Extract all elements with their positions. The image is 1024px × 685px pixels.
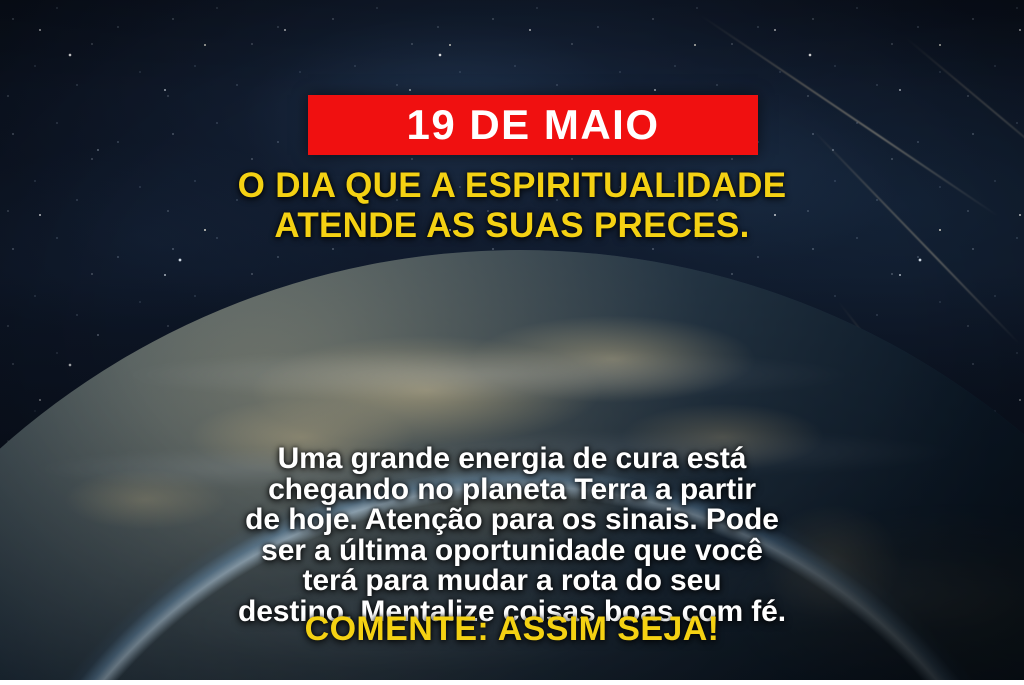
body-line-3: de hoje. Atenção para os sinais. Pode bbox=[62, 505, 962, 536]
body-line-1: Uma grande energia de cura está bbox=[62, 444, 962, 475]
body-paragraph: Uma grande energia de cura está chegando… bbox=[62, 444, 962, 628]
poster-content: 19 DE MAIO O DIA QUE A ESPIRITUALIDADE A… bbox=[0, 0, 1024, 685]
body-line-4: ser a última oportunidade que você bbox=[62, 536, 962, 567]
poster-canvas: 19 DE MAIO O DIA QUE A ESPIRITUALIDADE A… bbox=[0, 0, 1024, 685]
headline: O DIA QUE A ESPIRITUALIDADE ATENDE AS SU… bbox=[0, 166, 1024, 246]
date-banner: 19 DE MAIO bbox=[308, 95, 758, 155]
headline-line-1: O DIA QUE A ESPIRITUALIDADE bbox=[0, 166, 1024, 206]
bottom-white-edge bbox=[0, 680, 1024, 685]
body-line-5: terá para mudar a rota do seu bbox=[62, 566, 962, 597]
date-banner-text: 19 DE MAIO bbox=[406, 104, 659, 146]
body-line-2: chegando no planeta Terra a partir bbox=[62, 475, 962, 506]
call-to-action-text: COMENTE: ASSIM SEJA! bbox=[0, 612, 1024, 646]
headline-line-2: ATENDE AS SUAS PRECES. bbox=[0, 206, 1024, 246]
